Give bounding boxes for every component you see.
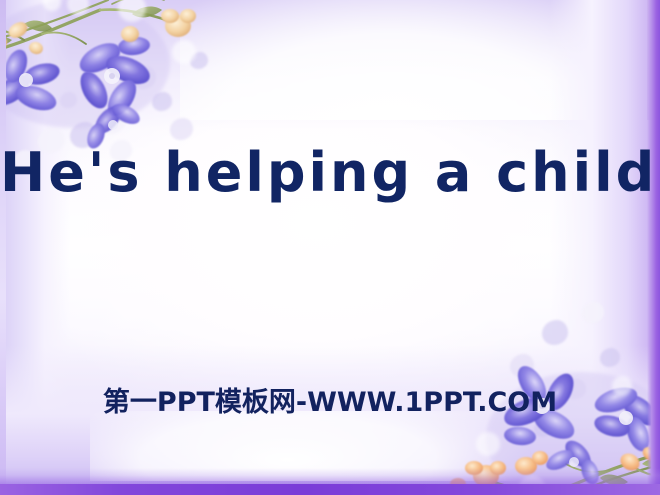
frame-bottom-glow <box>0 468 660 484</box>
site-watermark: 第一PPT模板网-WWW.1PPT.COM <box>0 380 660 419</box>
slide-canvas: He's helping a child. 第一PPT模板网-WWW.1PPT.… <box>0 0 660 495</box>
frame-right-edge <box>647 0 660 495</box>
background-top-highlight <box>180 0 600 120</box>
slide-title: He's helping a child. <box>0 146 660 200</box>
frame-left-edge <box>0 0 6 495</box>
frame-bottom-bar <box>0 484 660 495</box>
